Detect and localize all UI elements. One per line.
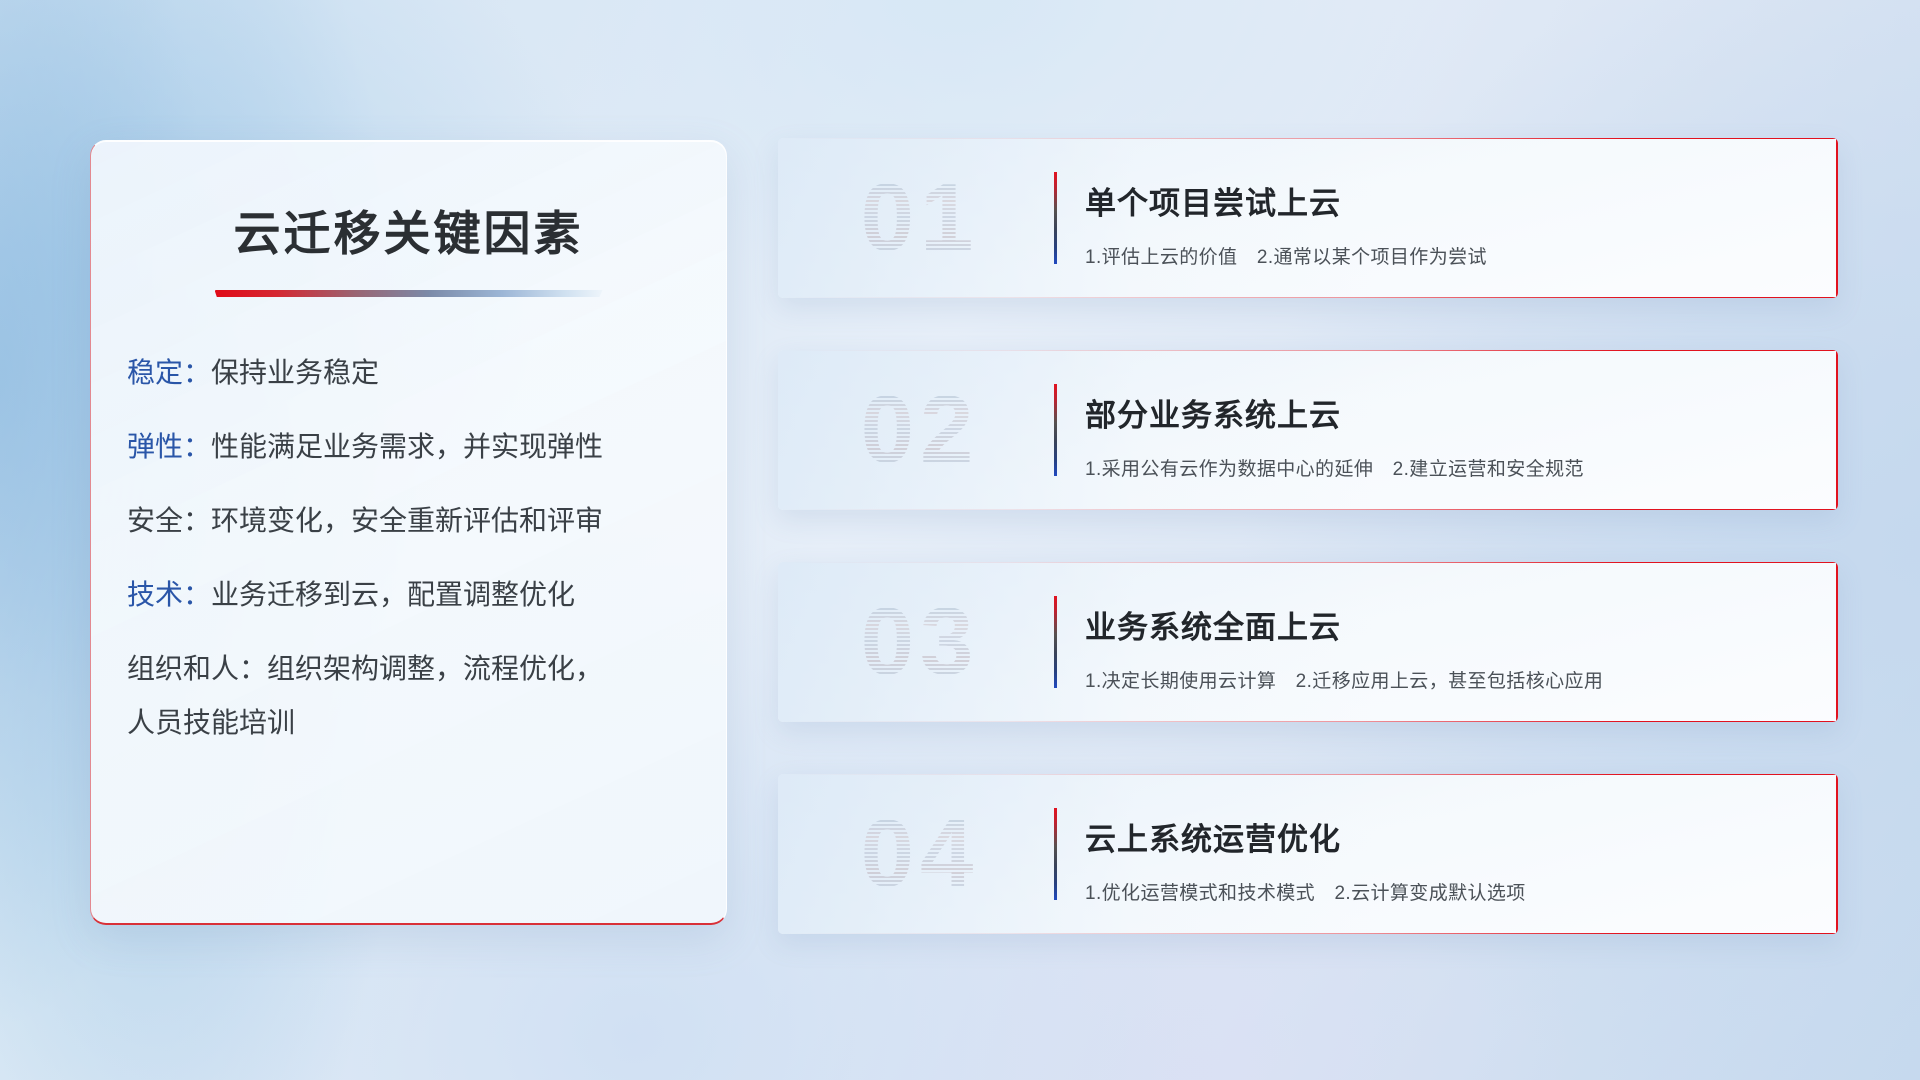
card-title: 云上系统运营优化 [1085, 814, 1798, 859]
card-title: 单个项目尝试上云 [1085, 178, 1798, 223]
page-title: 云迁移关键因素 [91, 195, 726, 264]
card-divider-bar [1054, 172, 1057, 264]
factor-label: 组织和人： [127, 655, 267, 683]
card-body: 业务系统全面上云1.决定长期使用云计算 2.迁移应用上云，甚至包括核心应用 [1085, 602, 1798, 693]
factor-row: 技术：业务迁移到云，配置调整优化 [127, 581, 726, 609]
stage-card[interactable]: 04云上系统运营优化1.优化运营模式和技术模式 2.云计算变成默认选项 [778, 774, 1838, 934]
stage-number-text: 03 [861, 587, 980, 697]
card-body: 部分业务系统上云1.采用公有云作为数据中心的延伸 2.建立运营和安全规范 [1085, 390, 1798, 481]
card-divider-bar [1054, 596, 1057, 688]
stage-number-watermark: 01 [800, 164, 1040, 272]
factor-row: 稳定：保持业务稳定 [127, 359, 726, 387]
key-factors-panel: 云迁移关键因素 稳定：保持业务稳定弹性：性能满足业务需求，并实现弹性安全：环境变… [90, 140, 727, 925]
title-underline-gradient [215, 290, 603, 297]
card-description: 1.评估上云的价值 2.通常以某个项目作为尝试 [1085, 242, 1798, 269]
factor-label: 安全： [127, 507, 211, 535]
stage-card[interactable]: 02部分业务系统上云1.采用公有云作为数据中心的延伸 2.建立运营和安全规范 [778, 350, 1838, 510]
stage-number-text: 02 [861, 375, 980, 485]
stage-number-text: 04 [861, 799, 980, 909]
card-title: 业务系统全面上云 [1085, 602, 1798, 647]
factor-list: 稳定：保持业务稳定弹性：性能满足业务需求，并实现弹性安全：环境变化，安全重新评估… [127, 359, 726, 737]
card-divider-bar [1054, 384, 1057, 476]
factor-label: 技术： [127, 581, 211, 609]
stage-number-watermark: 02 [800, 376, 1040, 484]
stage-number-watermark: 03 [800, 588, 1040, 696]
factor-label: 弹性： [127, 433, 211, 461]
factor-label: 稳定： [127, 359, 211, 387]
card-description: 1.采用公有云作为数据中心的延伸 2.建立运营和安全规范 [1085, 454, 1798, 481]
card-body: 云上系统运营优化1.优化运营模式和技术模式 2.云计算变成默认选项 [1085, 814, 1798, 905]
factor-text: 组织架构调整，流程优化， [267, 655, 603, 683]
slide-canvas: 云迁移关键因素 稳定：保持业务稳定弹性：性能满足业务需求，并实现弹性安全：环境变… [0, 0, 1920, 1080]
card-divider-bar [1054, 808, 1057, 900]
stage-card-list: 01单个项目尝试上云1.评估上云的价值 2.通常以某个项目作为尝试02部分业务系… [778, 138, 1838, 934]
factor-row: 人员技能培训 [127, 709, 726, 737]
factor-row: 弹性：性能满足业务需求，并实现弹性 [127, 433, 726, 461]
factor-text: 保持业务稳定 [211, 359, 379, 387]
factor-text: 性能满足业务需求，并实现弹性 [211, 433, 603, 461]
card-description: 1.优化运营模式和技术模式 2.云计算变成默认选项 [1085, 878, 1798, 905]
factor-text: 业务迁移到云，配置调整优化 [211, 581, 575, 609]
card-description: 1.决定长期使用云计算 2.迁移应用上云，甚至包括核心应用 [1085, 666, 1798, 693]
factor-row: 组织和人：组织架构调整，流程优化， [127, 655, 726, 683]
factor-text: 环境变化，安全重新评估和评审 [211, 507, 603, 535]
stage-number-text: 01 [861, 163, 980, 273]
stage-number-watermark: 04 [800, 800, 1040, 908]
stage-card[interactable]: 01单个项目尝试上云1.评估上云的价值 2.通常以某个项目作为尝试 [778, 138, 1838, 298]
stage-card[interactable]: 03业务系统全面上云1.决定长期使用云计算 2.迁移应用上云，甚至包括核心应用 [778, 562, 1838, 722]
factor-text: 人员技能培训 [127, 709, 295, 737]
factor-row: 安全：环境变化，安全重新评估和评审 [127, 507, 726, 535]
card-title: 部分业务系统上云 [1085, 390, 1798, 435]
card-body: 单个项目尝试上云1.评估上云的价值 2.通常以某个项目作为尝试 [1085, 178, 1798, 269]
